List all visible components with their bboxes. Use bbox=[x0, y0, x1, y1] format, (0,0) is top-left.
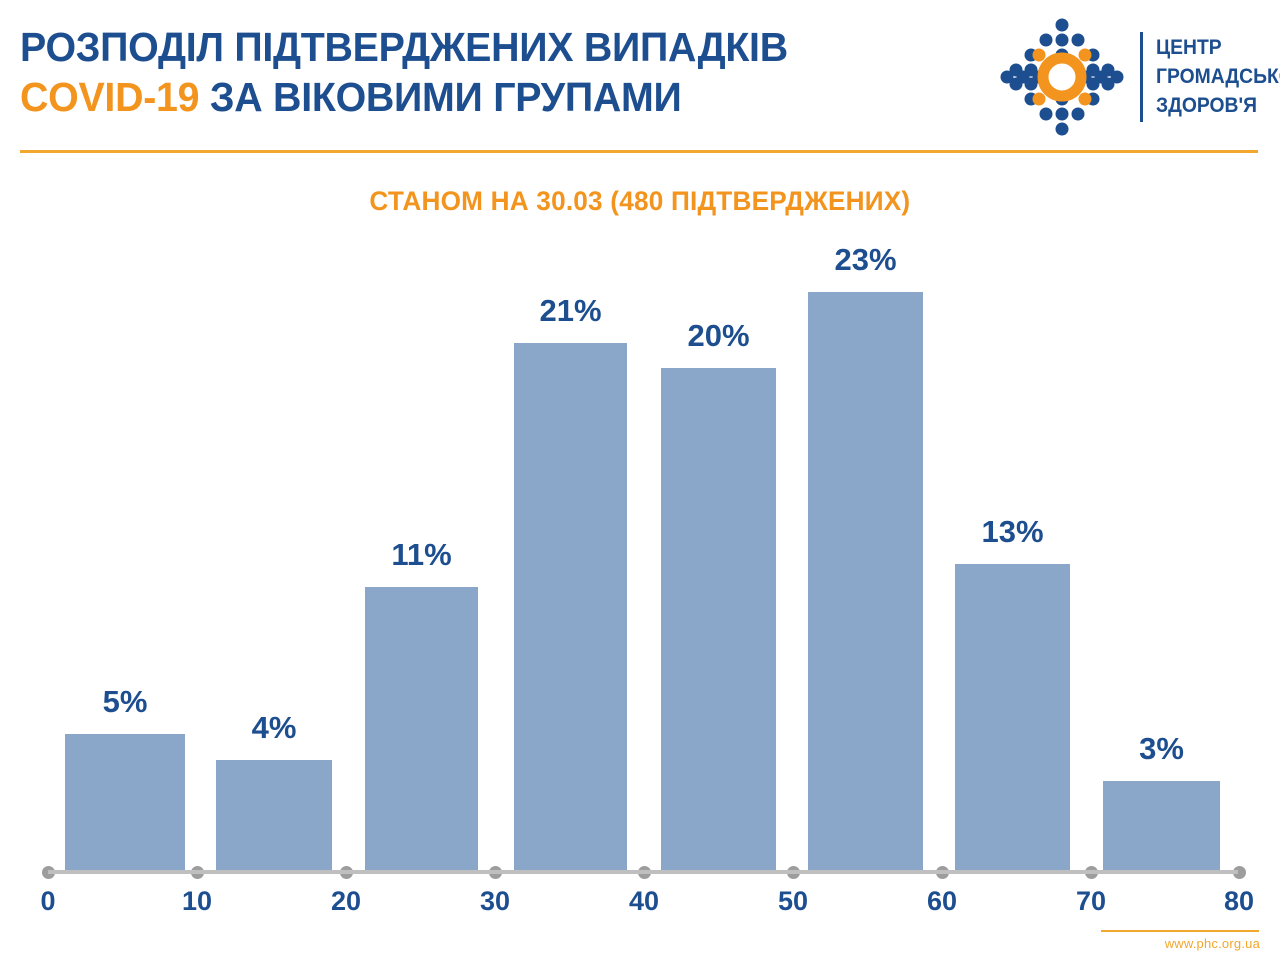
bar-10-20 bbox=[216, 760, 332, 870]
bar-20-30 bbox=[365, 587, 478, 870]
logo-text: ЦЕНТР ГРОМАДСЬКОГО ЗДОРОВ'Я bbox=[1156, 33, 1280, 120]
chart-subtitle: СТАНОМ НА 30.03 (480 ПІДТВЕРДЖЕНИХ) bbox=[0, 186, 1280, 217]
logo-text-line-2: ГРОМАДСЬКОГО bbox=[1156, 62, 1280, 91]
x-axis-tick-label-50: 50 bbox=[753, 886, 833, 917]
chart-subtitle-text: СТАНОМ НА 30.03 (480 ПІДТВЕРДЖЕНИХ) bbox=[370, 186, 911, 217]
header-divider-rule bbox=[20, 150, 1258, 153]
logo-text-line-1: ЦЕНТР bbox=[1156, 33, 1280, 62]
logo-text-line-3: ЗДОРОВ'Я bbox=[1156, 91, 1280, 120]
page-title-line-2: COVID-19 ЗА ВІКОВИМИ ГРУПАМИ bbox=[20, 72, 884, 122]
phc-dot-diamond-logo-icon bbox=[1000, 18, 1124, 136]
bar-50-60 bbox=[808, 292, 923, 870]
bar-value-label-10-20: 4% bbox=[216, 710, 332, 746]
x-axis-tick-dot-80 bbox=[1233, 866, 1246, 879]
bar-value-label-50-60: 23% bbox=[808, 242, 923, 278]
footer-website-url: www.phc.org.ua bbox=[1165, 936, 1260, 951]
bar-40-50 bbox=[661, 368, 776, 870]
x-axis-tick-dot-10 bbox=[191, 866, 204, 879]
bar-70-80 bbox=[1103, 781, 1220, 870]
x-axis-tick-dot-60 bbox=[936, 866, 949, 879]
x-axis-tick-dot-0 bbox=[42, 866, 55, 879]
x-axis-tick-dot-50 bbox=[787, 866, 800, 879]
x-axis-tick-dot-40 bbox=[638, 866, 651, 879]
x-axis-tick-label-60: 60 bbox=[902, 886, 982, 917]
x-axis-tick-label-40: 40 bbox=[604, 886, 684, 917]
page-title: РОЗПОДІЛ ПІДТВЕРДЖЕНИХ ВИПАДКІВ COVID-19… bbox=[20, 22, 920, 122]
page-title-line-2-rest: ЗА ВІКОВИМИ ГРУПАМИ bbox=[210, 74, 682, 120]
x-axis-tick-label-80: 80 bbox=[1199, 886, 1279, 917]
bar-value-label-0-10: 5% bbox=[65, 684, 185, 720]
x-axis-tick-label-30: 30 bbox=[455, 886, 535, 917]
bar-value-label-70-80: 3% bbox=[1103, 731, 1220, 767]
x-axis-tick-dot-20 bbox=[340, 866, 353, 879]
page-header: РОЗПОДІЛ ПІДТВЕРДЖЕНИХ ВИПАДКІВ COVID-19… bbox=[0, 0, 1280, 152]
page-title-covid-word: COVID-19 bbox=[20, 74, 199, 120]
x-axis-tick-label-0: 0 bbox=[8, 886, 88, 917]
bar-value-label-20-30: 11% bbox=[365, 537, 478, 573]
x-axis-line bbox=[48, 870, 1238, 874]
x-axis-tick-dot-30 bbox=[489, 866, 502, 879]
bar-0-10 bbox=[65, 734, 185, 870]
x-axis-tick-label-20: 20 bbox=[306, 886, 386, 917]
x-axis-tick-label-70: 70 bbox=[1051, 886, 1131, 917]
bar-60-70 bbox=[955, 564, 1070, 870]
logo-divider bbox=[1140, 32, 1143, 122]
footer-divider-rule bbox=[1101, 930, 1259, 932]
page-title-line-1: РОЗПОДІЛ ПІДТВЕРДЖЕНИХ ВИПАДКІВ bbox=[20, 22, 884, 72]
bar-30-40 bbox=[514, 343, 627, 870]
bar-value-label-30-40: 21% bbox=[514, 293, 627, 329]
phc-logo: ЦЕНТР ГРОМАДСЬКОГО ЗДОРОВ'Я bbox=[1000, 16, 1268, 136]
bar-value-label-60-70: 13% bbox=[955, 514, 1070, 550]
bar-value-label-40-50: 20% bbox=[661, 318, 776, 354]
x-axis-tick-label-10: 10 bbox=[157, 886, 237, 917]
x-axis-tick-dot-70 bbox=[1085, 866, 1098, 879]
